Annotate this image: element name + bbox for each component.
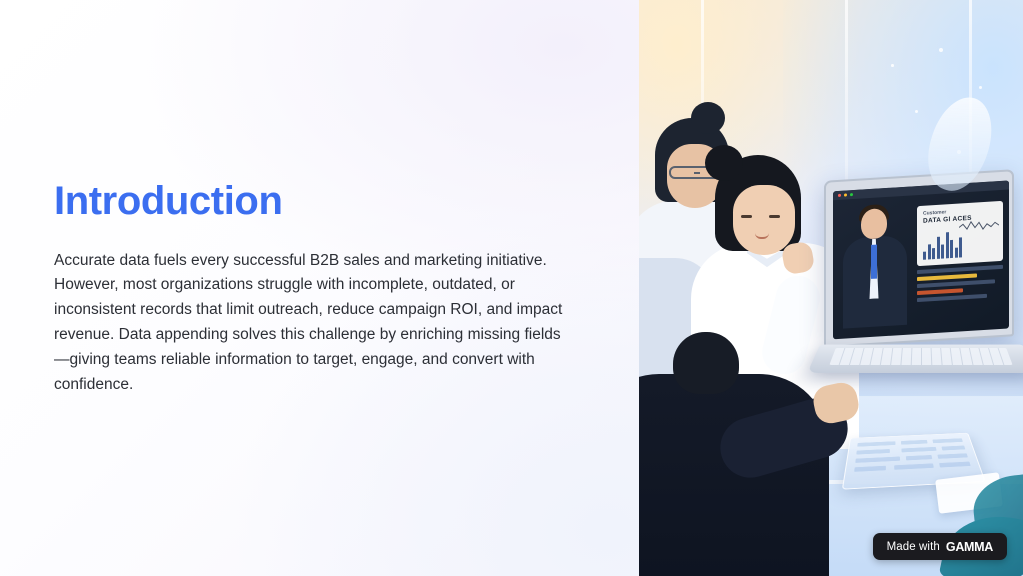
content-panel: Introduction Accurate data fuels every s…: [0, 0, 639, 576]
close-icon: [838, 194, 841, 197]
sparkle-icon: [939, 48, 943, 52]
video-call-participant: [841, 202, 911, 326]
body-paragraph: Accurate data fuels every successful B2B…: [54, 249, 576, 398]
screen-titlebar: [833, 180, 1009, 200]
slide-root: Introduction Accurate data fuels every s…: [0, 0, 1023, 576]
laptop-base: [807, 345, 1023, 373]
gamma-brand-label: GAMMA: [946, 540, 993, 554]
laptop-lid: Customer DATA Gl ACES: [824, 169, 1014, 348]
bar-chart-icon: [923, 227, 967, 260]
maximize-icon: [850, 193, 853, 196]
minimize-icon: [844, 193, 847, 196]
illustration-panel: Customer DATA Gl ACES: [639, 0, 1023, 576]
sparkle-icon: [891, 64, 894, 67]
person-foreground-suit: [639, 322, 819, 576]
sparkle-icon: [915, 110, 918, 113]
sparkle-icon: [979, 86, 982, 89]
page-title: Introduction: [54, 179, 579, 223]
laptop-keyboard: [829, 348, 1012, 365]
laptop-screen: Customer DATA Gl ACES: [833, 180, 1009, 339]
made-with-label: Made with: [887, 541, 940, 553]
screen-data-rows: [917, 265, 1003, 305]
made-with-gamma-badge[interactable]: Made with GAMMA: [873, 533, 1007, 560]
laptop-device: Customer DATA Gl ACES: [824, 175, 1023, 415]
screen-data-panel: Customer DATA Gl ACES: [917, 201, 1003, 266]
